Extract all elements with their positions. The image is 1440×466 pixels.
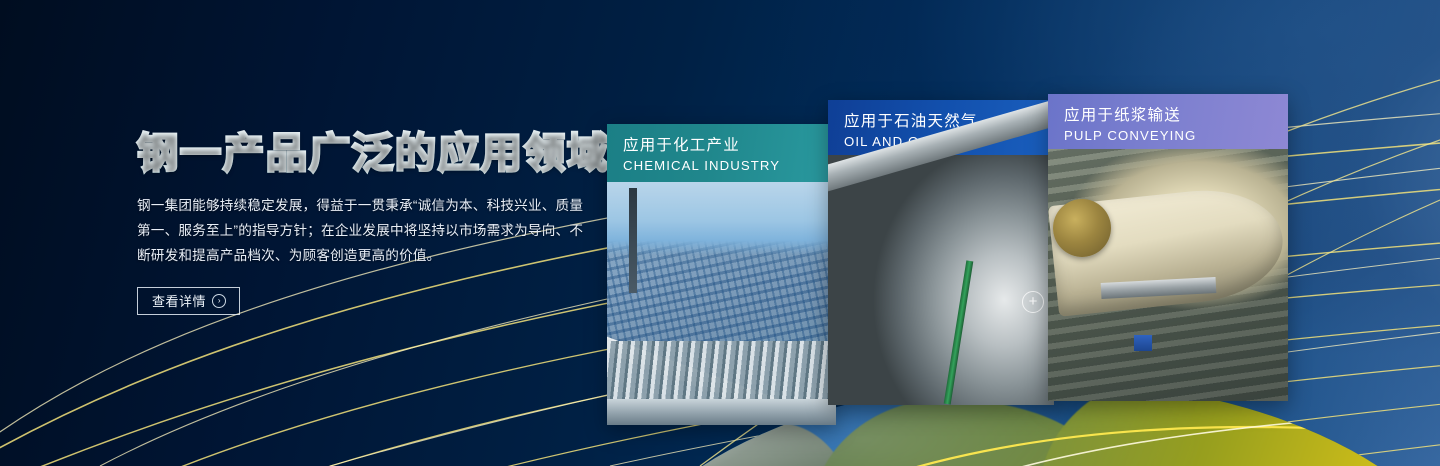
zoom-plus-icon[interactable]: + (1022, 291, 1044, 313)
view-details-label: 查看详情 (152, 295, 206, 308)
card-title-en: CHEMICAL INDUSTRY (623, 157, 836, 175)
page-title: 钢一产品广泛的应用领域 (137, 132, 607, 175)
roller-hub-shape (1053, 199, 1111, 257)
card-title-cn: 应用于纸浆输送 (1064, 105, 1288, 127)
application-card-oil-and-gas[interactable]: 应用于石油天然气 OIL AND GAS + (828, 100, 1054, 405)
card-photo-chemical-plant (607, 182, 836, 425)
card-header-pulp-conveying: 应用于纸浆输送 PULP CONVEYING (1048, 94, 1288, 149)
card-photo-oil-gas-pipework: + (828, 155, 1054, 405)
hero-description: 钢一集团能够持续稳定发展，得益于一贯秉承“诚信为本、科技兴业、质量第一、服务至上… (137, 193, 587, 268)
hero-copy-block: 钢一产品广泛的应用领域 钢一集团能够持续稳定发展，得益于一贯秉承“诚信为本、科技… (137, 132, 607, 315)
card-title-en: PULP CONVEYING (1064, 127, 1288, 145)
application-card-pulp-conveying[interactable]: 应用于纸浆输送 PULP CONVEYING (1048, 94, 1288, 401)
foreground-pipe-shape (607, 399, 836, 425)
blue-fitting-shape (1134, 335, 1152, 351)
chevron-right-icon: › (212, 294, 226, 308)
view-details-button[interactable]: 查看详情 › (137, 287, 240, 315)
application-card-chemical-industry[interactable]: 应用于化工产业 CHEMICAL INDUSTRY (607, 124, 836, 425)
hero-banner: 钢一产品广泛的应用领域 钢一集团能够持续稳定发展，得益于一贯秉承“诚信为本、科技… (0, 0, 1440, 466)
card-title-cn: 应用于化工产业 (623, 135, 836, 157)
smokestack-shape (629, 188, 637, 293)
card-header-chemical-industry: 应用于化工产业 CHEMICAL INDUSTRY (607, 124, 836, 182)
green-pipe-shape (943, 260, 973, 404)
card-photo-pulp-roller (1048, 149, 1288, 401)
